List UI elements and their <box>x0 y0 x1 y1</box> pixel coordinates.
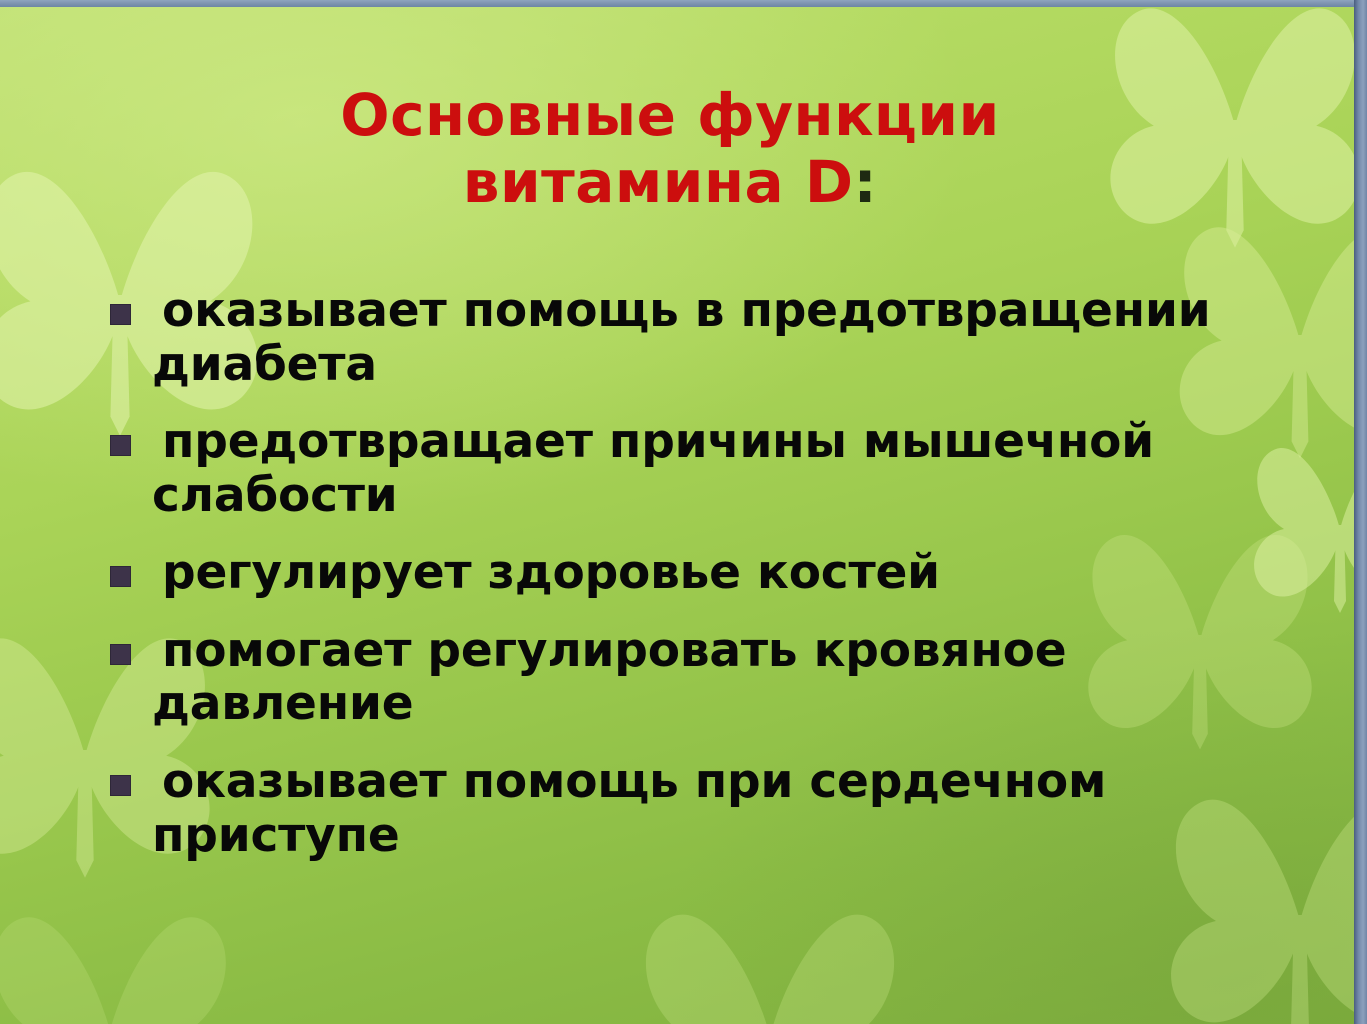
list-item-label: оказывает помощь при сердечном приступе <box>152 755 1222 862</box>
list-item-label: оказывает помощь в предотвращении диабет… <box>152 284 1222 391</box>
list-item: регулирует здоровье костей <box>0 546 1340 600</box>
square-bullet-icon <box>110 775 131 796</box>
square-bullet-icon <box>110 304 131 325</box>
list-item-label: помогает регулировать кровяное давление <box>152 624 1332 731</box>
slide-title-line-2: витамина D: <box>0 151 1340 214</box>
slide-border-right <box>1354 0 1367 1024</box>
list-item: помогает регулировать кровяное давление <box>0 624 1340 731</box>
slide-title-line-1: Основные функции <box>0 84 1340 147</box>
list-item-label: предотвращает причины мышечной слабости <box>152 415 1222 522</box>
list-item: оказывает помощь при сердечном приступе <box>0 755 1340 862</box>
list-item: предотвращает причины мышечной слабости <box>0 415 1340 522</box>
slide-border-top <box>0 0 1367 7</box>
slide-title: Основные функции витамина D: <box>0 84 1340 214</box>
square-bullet-icon <box>110 435 131 456</box>
slide-title-colon: : <box>854 148 878 216</box>
bullet-list: оказывает помощь в предотвращении диабет… <box>0 284 1340 886</box>
slide-title-line-2-text: витамина D <box>463 148 854 216</box>
list-item: оказывает помощь в предотвращении диабет… <box>0 284 1340 391</box>
square-bullet-icon <box>110 644 131 665</box>
list-item-label: регулирует здоровье костей <box>152 546 1332 600</box>
square-bullet-icon <box>110 566 131 587</box>
presentation-slide: Основные функции витамина D: оказывает п… <box>0 0 1367 1024</box>
